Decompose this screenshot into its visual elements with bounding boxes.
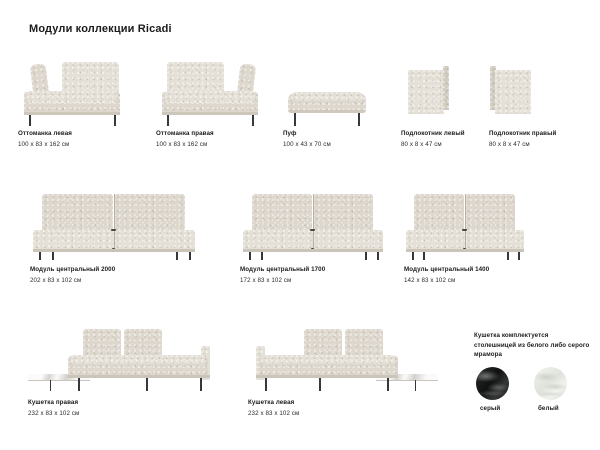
product-dimensions: 232 x 83 x 102 см xyxy=(28,411,79,417)
sofa-module-1700-icon xyxy=(240,190,395,260)
daybed-right-icon xyxy=(28,320,218,395)
ottoman-left-icon xyxy=(18,58,130,126)
daybed-left-icon xyxy=(248,320,438,395)
product-name: Подлокотник правый xyxy=(489,131,556,137)
product-module-1400[interactable]: Модуль центральный 1400 142 x 83 x 102 с… xyxy=(404,190,539,260)
product-name: Модуль центральный 2000 xyxy=(30,267,115,273)
product-name: Кушетка левая xyxy=(248,400,299,406)
product-name: Оттоманка правая xyxy=(156,131,214,137)
marble-grey-label: серый xyxy=(480,405,500,412)
product-dimensions: 142 x 83 x 102 см xyxy=(404,278,489,284)
product-dimensions: 100 x 83 x 162 см xyxy=(18,142,72,148)
catalog-page: Модули коллекции Ricadi Оттоманка левая … xyxy=(0,0,600,450)
product-dimensions: 202 x 83 x 102 см xyxy=(30,278,115,284)
product-ottoman-right[interactable]: Оттоманка правая 100 x 83 x 162 см xyxy=(156,58,268,126)
product-dimensions: 100 x 83 x 162 см xyxy=(156,142,214,148)
product-dimensions: 172 x 83 x 102 см xyxy=(240,278,325,284)
marble-white-swatch[interactable] xyxy=(534,367,567,400)
product-armrest-right[interactable]: Подлокотник правый 80 x 8 x 47 см xyxy=(489,58,575,126)
sofa-module-1400-icon xyxy=(404,190,539,260)
product-dimensions: 100 x 43 x 70 см xyxy=(283,142,331,148)
product-daybed-left[interactable]: Кушетка левая 232 x 83 x 102 см xyxy=(248,320,438,395)
product-name: Подлокотник левый xyxy=(401,131,465,137)
pouf-icon xyxy=(283,58,383,126)
sofa-module-2000-icon xyxy=(30,190,205,260)
page-title: Модули коллекции Ricadi xyxy=(29,23,172,35)
armrest-right-icon xyxy=(489,58,575,126)
product-name: Пуф xyxy=(283,131,331,137)
product-ottoman-left[interactable]: Оттоманка левая 100 x 83 x 162 см xyxy=(18,58,130,126)
marble-white-label: белый xyxy=(538,405,559,412)
armrest-left-icon xyxy=(401,58,487,126)
ottoman-right-icon xyxy=(156,58,268,126)
product-pouf[interactable]: Пуф 100 x 43 x 70 см xyxy=(283,58,383,126)
marble-note-text: Кушетка комплектуется столешницей из бел… xyxy=(474,331,592,360)
product-name: Модуль центральный 1700 xyxy=(240,267,325,273)
product-name: Оттоманка левая xyxy=(18,131,72,137)
product-name: Модуль центральный 1400 xyxy=(404,267,489,273)
marble-grey-swatch[interactable] xyxy=(476,367,509,400)
product-dimensions: 232 x 83 x 102 см xyxy=(248,411,299,417)
product-dimensions: 80 x 8 x 47 см xyxy=(489,142,556,148)
marble-note: Кушетка комплектуется столешницей из бел… xyxy=(474,331,592,360)
product-daybed-right[interactable]: Кушетка правая 232 x 83 x 102 см xyxy=(28,320,218,395)
product-module-1700[interactable]: Модуль центральный 1700 172 x 83 x 102 с… xyxy=(240,190,395,260)
product-name: Кушетка правая xyxy=(28,400,79,406)
product-armrest-left[interactable]: Подлокотник левый 80 x 8 x 47 см xyxy=(401,58,487,126)
product-dimensions: 80 x 8 x 47 см xyxy=(401,142,465,148)
product-module-2000[interactable]: Модуль центральный 2000 202 x 83 x 102 с… xyxy=(30,190,205,260)
